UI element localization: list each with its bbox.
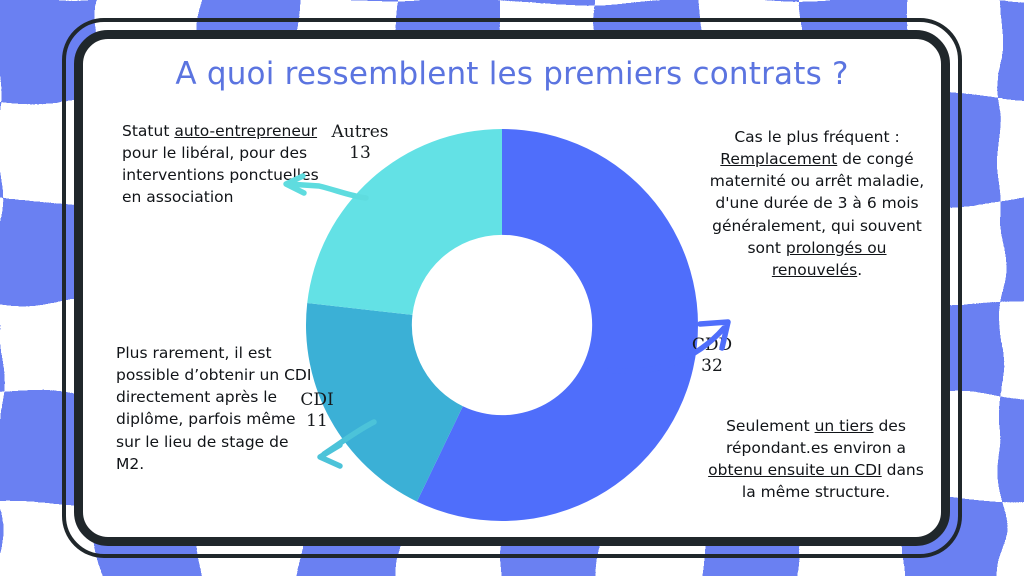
donut-chart xyxy=(302,125,702,525)
slice-label-cdd: CDD 32 xyxy=(674,335,750,376)
note-cdi-direct: Plus rarement, il est possible d’obtenir… xyxy=(116,342,316,475)
slice-label-autres-value: 13 xyxy=(320,143,400,164)
note-remplacement: Cas le plus fréquent : Remplacement de c… xyxy=(704,126,930,281)
slice-label-cdd-value: 32 xyxy=(674,356,750,377)
slide-canvas: A quoi ressemblent les premiers contrats… xyxy=(0,0,1024,576)
note-un-tiers: Seulement un tiers des répondant.es envi… xyxy=(702,415,930,504)
slice-label-autres: Autres 13 xyxy=(320,122,400,163)
note-auto-entrepreneur: Statut auto-entrepreneur pour le libéral… xyxy=(122,120,322,209)
slice-label-cdd-name: CDD xyxy=(692,335,732,355)
slice-label-autres-name: Autres xyxy=(332,122,389,142)
page-title: A quoi ressemblent les premiers contrats… xyxy=(74,56,950,92)
donut-slices xyxy=(306,129,698,521)
card-content: A quoi ressemblent les premiers contrats… xyxy=(74,30,950,546)
